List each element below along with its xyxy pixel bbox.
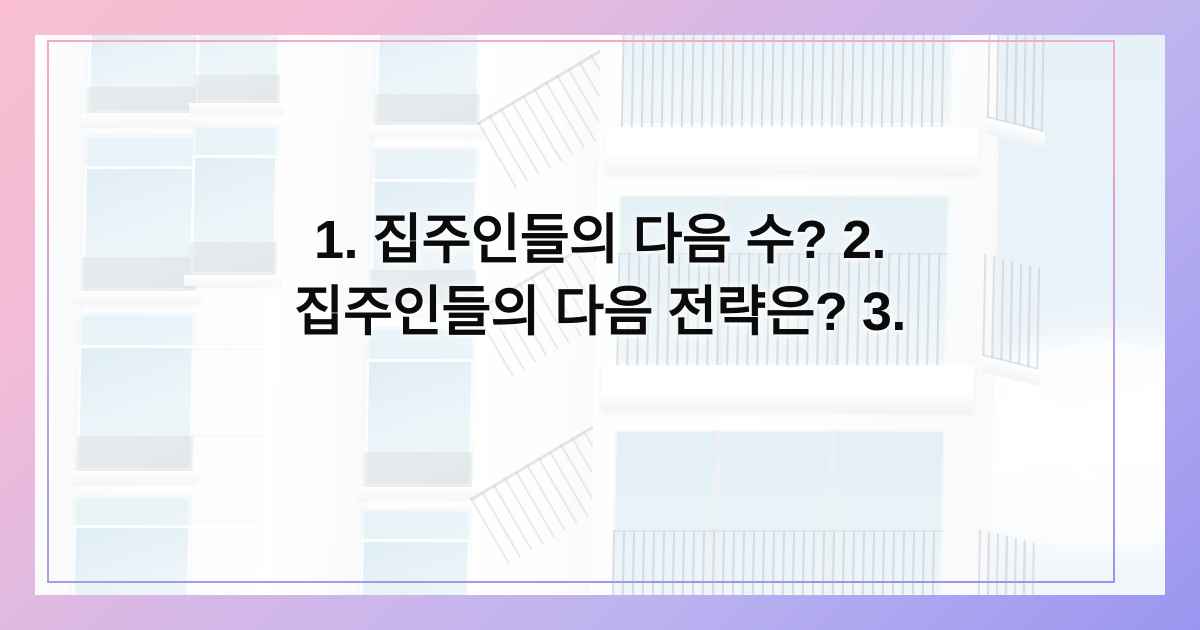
thumbnail-card: 1. 집주인들의 다음 수? 2. 집주인들의 다음 전략은? 3.: [0, 0, 1200, 630]
headline-text: 1. 집주인들의 다음 수? 2. 집주인들의 다음 전략은? 3.: [0, 205, 1200, 349]
window-sill: [189, 103, 285, 114]
balcony-slab: [606, 127, 979, 173]
window-sill: [369, 125, 485, 137]
window: [364, 327, 475, 487]
window-sill: [358, 487, 478, 499]
balcony-railing: [611, 530, 943, 595]
window: [375, 35, 482, 125]
window: [87, 35, 201, 113]
window: [71, 495, 192, 595]
window: [359, 509, 472, 595]
balcony: [598, 35, 1002, 175]
balcony: [588, 390, 993, 595]
balcony-railing: [621, 35, 953, 132]
window-sill: [81, 113, 205, 125]
window: [195, 35, 281, 103]
window-sill: [70, 471, 198, 483]
balcony-side-railing: [987, 35, 1045, 133]
